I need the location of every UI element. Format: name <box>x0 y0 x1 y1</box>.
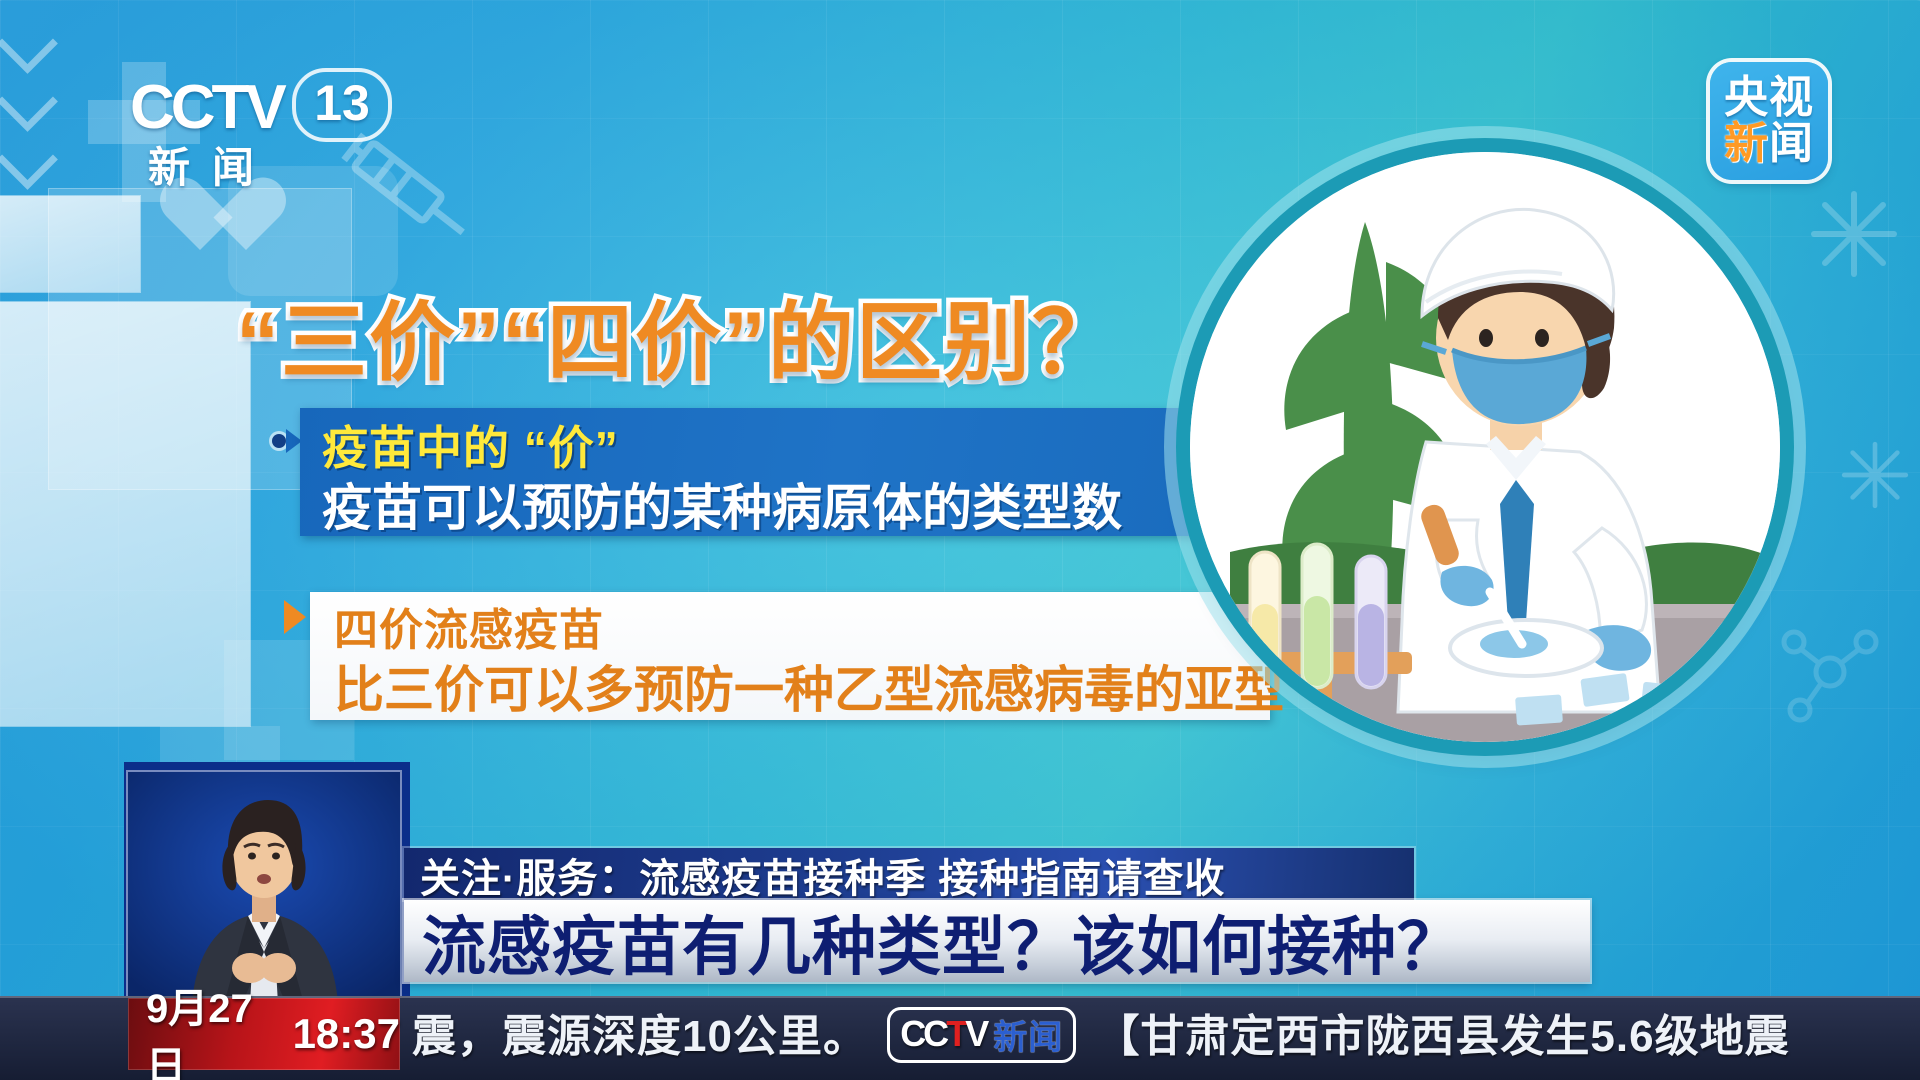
cctv-news-logo-line2-white: 闻 <box>1769 119 1814 168</box>
ticker-logo-c2: T <box>946 1013 965 1055</box>
anchor-video <box>128 772 400 1004</box>
lower-third-headline-text: 流感疫苗有几种类型？该如何接种？ <box>422 896 1462 988</box>
channel-bug-cctv13: CCTV 13 新闻 <box>100 58 380 178</box>
page-title: “三价”“四价”的区别？ <box>236 272 1120 397</box>
cctv-news-logo-line1: 央视 <box>1724 76 1814 120</box>
broadcast-screen: CCTV 13 新闻 央视 新闻 “三价”“四价”的区别？ 疫苗中的 “价” 疫… <box>0 0 1920 1080</box>
channel-bug-brand: CCTV <box>130 72 283 143</box>
lower-third-headline: 流感疫苗有几种类型？该如何接种？ <box>404 900 1590 982</box>
cctv-news-ticker-logo: CCTV新闻 <box>887 1007 1076 1063</box>
snowflake-icon <box>1838 438 1912 512</box>
info-box-1-subtitle: 疫苗可以预防的某种病原体的类型数 <box>322 468 1122 540</box>
cctv-news-logo-line2: 新闻 <box>1724 122 1814 166</box>
info-box-1: 疫苗中的 “价” 疫苗可以预防的某种病原体的类型数 <box>300 408 1200 536</box>
cctv-news-logo-line2-orange: 新 <box>1724 119 1769 168</box>
channel-bug-sub: 新闻 <box>148 134 276 195</box>
molecule-icon <box>1770 612 1890 732</box>
ticker-logo-c3: V <box>965 1013 987 1055</box>
ticker-lead-text: 震，震源深度10公里。 <box>412 1012 868 1061</box>
ticker-datetime: 9月27日 18:37 <box>128 998 400 1070</box>
lower-third-topic: 关注·服务：流感疫苗接种季 接种指南请查收 <box>404 848 1414 900</box>
news-ticker-bar: 9月27日 18:37 震，震源深度10公里。 CCTV新闻 【甘肃定西市陇西县… <box>0 996 1920 1080</box>
info-box-2-subtitle: 比三价可以多预防一种乙型流感病毒的亚型 <box>334 650 1284 722</box>
ticker-text: 震，震源深度10公里。 CCTV新闻 【甘肃定西市陇西县发生5.6级地震 <box>412 1000 1790 1067</box>
ticker-logo-sub: 新闻 <box>993 1010 1063 1059</box>
cctv-news-logo: 央视 新闻 <box>1710 62 1828 180</box>
channel-bug-number: 13 <box>292 68 392 142</box>
info-box-2-title: 四价流感疫苗 <box>334 594 604 658</box>
ticker-logo-c1: CC <box>900 1013 946 1055</box>
snowflake-icon <box>1806 186 1902 282</box>
decorative-panel <box>0 196 140 292</box>
ticker-date: 9月27日 <box>146 976 275 1080</box>
info-box-2: 四价流感疫苗 比三价可以多预防一种乙型流感病毒的亚型 <box>310 592 1270 720</box>
ticker-time: 18:37 <box>293 1010 400 1058</box>
ticker-next-text: 【甘肃定西市陇西县发生5.6级地震 <box>1095 1012 1789 1061</box>
bullet-marker-icon <box>272 428 298 454</box>
decorative-panel <box>0 302 250 726</box>
lab-scientist-illustration <box>1190 152 1780 742</box>
